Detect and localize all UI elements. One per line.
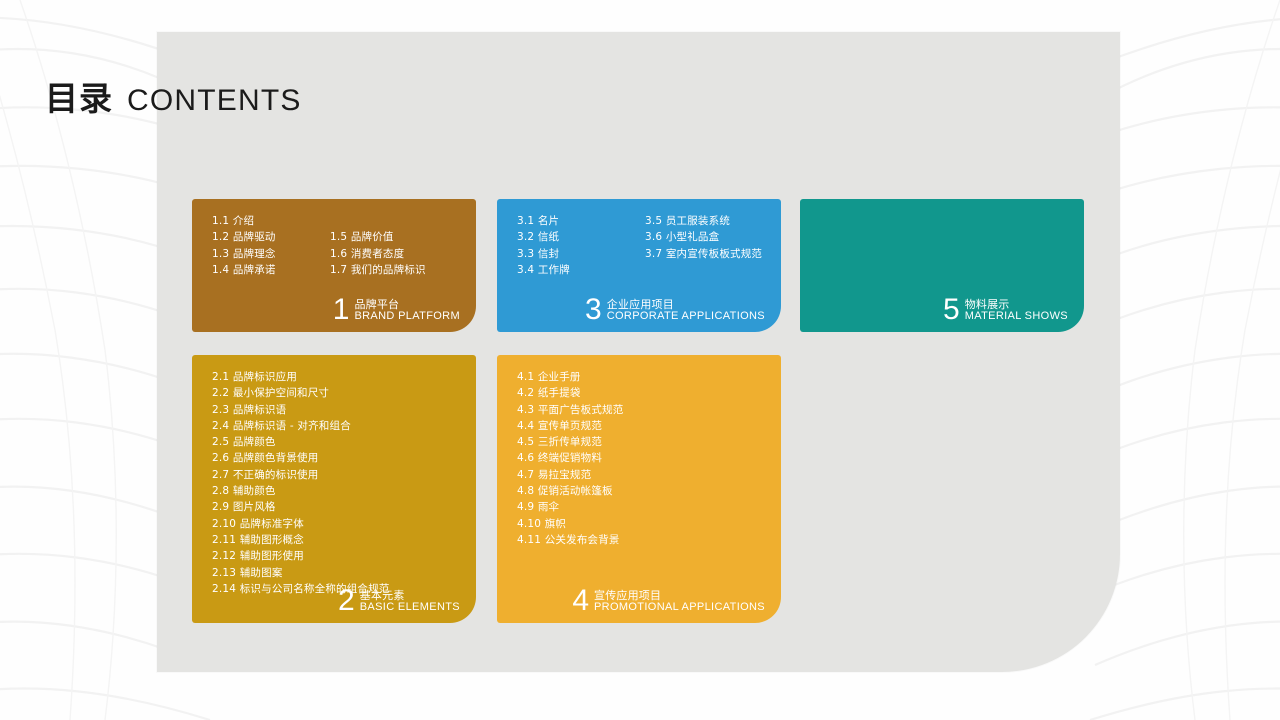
toc-item[interactable]: 2.4 品牌标识语 - 对齐和组合 xyxy=(212,418,390,434)
toc-item[interactable]: 2.12 辅助图形使用 xyxy=(212,548,390,564)
toc-item[interactable]: 2.3 品牌标识语 xyxy=(212,402,390,418)
toc-card-title-cn: 品牌平台 xyxy=(354,299,460,311)
toc-card-titles: 物料展示MATERIAL SHOWS xyxy=(965,299,1068,324)
toc-item[interactable]: 3.2 信纸 xyxy=(517,229,645,245)
toc-item[interactable]: 4.11 公关发布会背景 xyxy=(517,532,623,548)
toc-item[interactable]: 4.8 促销活动帐篷板 xyxy=(517,483,623,499)
toc-item[interactable]: 1.6 消费者态度 xyxy=(330,246,448,262)
toc-card-title-en: MATERIAL SHOWS xyxy=(965,311,1068,323)
toc-item[interactable]: 1.5 品牌价值 xyxy=(330,229,448,245)
toc-card-title-en: PROMOTIONAL APPLICATIONS xyxy=(594,602,765,614)
toc-item[interactable]: 1.4 品牌承诺 xyxy=(212,262,330,278)
toc-card-title-en: BRAND PLATFORM xyxy=(354,311,460,323)
toc-card-footer: 3企业应用项目CORPORATE APPLICATIONS xyxy=(585,296,765,324)
toc-card-number: 2 xyxy=(338,587,355,615)
toc-item[interactable]: 4.3 平面广告板式规范 xyxy=(517,402,623,418)
slide-root: 目录 CONTENTS 1.1 介绍1.2 品牌驱动1.3 品牌理念1.4 品牌… xyxy=(0,0,1280,720)
toc-card-footer: 2基本元素BASIC ELEMENTS xyxy=(338,587,460,615)
toc-card-4[interactable]: 4.1 企业手册4.2 纸手提袋4.3 平面广告板式规范4.4 宣传单页规范4.… xyxy=(497,355,781,623)
toc-card-footer: 4宣传应用项目PROMOTIONAL APPLICATIONS xyxy=(572,587,765,615)
toc-card-column-2: 3.5 员工服装系统3.6 小型礼品盒3.7 室内宣传板板式规范 xyxy=(645,213,773,278)
toc-item[interactable]: 2.5 品牌颜色 xyxy=(212,434,390,450)
page-title-en: CONTENTS xyxy=(127,84,302,118)
toc-card-footer: 5物料展示MATERIAL SHOWS xyxy=(943,296,1068,324)
toc-card-column-1: 2.1 品牌标识应用2.2 最小保护空间和尺寸2.3 品牌标识语2.4 品牌标识… xyxy=(212,369,390,597)
toc-item[interactable]: 1.2 品牌驱动 xyxy=(212,229,330,245)
toc-card-1[interactable]: 1.1 介绍1.2 品牌驱动1.3 品牌理念1.4 品牌承诺 1.5 品牌价值1… xyxy=(192,199,476,332)
toc-item[interactable]: 2.1 品牌标识应用 xyxy=(212,369,390,385)
page-title-cn: 目录 xyxy=(45,72,113,120)
toc-item-spacer xyxy=(330,213,448,229)
toc-card-items: 3.1 名片3.2 信纸3.3 信封3.4 工作牌3.5 员工服装系统3.6 小… xyxy=(517,213,763,278)
toc-card-number: 5 xyxy=(943,296,960,324)
toc-item[interactable]: 1.7 我们的品牌标识 xyxy=(330,262,448,278)
toc-item[interactable]: 4.9 雨伞 xyxy=(517,499,623,515)
toc-card-column-1: 1.1 介绍1.2 品牌驱动1.3 品牌理念1.4 品牌承诺 xyxy=(212,213,330,278)
toc-card-items: 4.1 企业手册4.2 纸手提袋4.3 平面广告板式规范4.4 宣传单页规范4.… xyxy=(517,369,763,548)
toc-item[interactable]: 3.3 信封 xyxy=(517,246,645,262)
page-title: 目录 CONTENTS xyxy=(45,72,302,120)
toc-item-spacer xyxy=(645,262,773,278)
toc-item[interactable]: 4.10 旗帜 xyxy=(517,516,623,532)
toc-item[interactable]: 2.8 辅助颜色 xyxy=(212,483,390,499)
toc-item[interactable]: 3.5 员工服装系统 xyxy=(645,213,773,229)
toc-item[interactable]: 2.11 辅助图形概念 xyxy=(212,532,390,548)
toc-card-titles: 企业应用项目CORPORATE APPLICATIONS xyxy=(607,299,765,324)
toc-item[interactable]: 1.1 介绍 xyxy=(212,213,330,229)
toc-item[interactable]: 2.9 图片风格 xyxy=(212,499,390,515)
toc-card-titles: 品牌平台BRAND PLATFORM xyxy=(354,299,460,324)
toc-item[interactable]: 3.1 名片 xyxy=(517,213,645,229)
toc-card-number: 1 xyxy=(333,296,350,324)
toc-card-title-cn: 宣传应用项目 xyxy=(594,590,765,602)
toc-card-column-1: 3.1 名片3.2 信纸3.3 信封3.4 工作牌 xyxy=(517,213,645,278)
toc-card-5[interactable]: 5物料展示MATERIAL SHOWS xyxy=(800,199,1084,332)
toc-card-number: 4 xyxy=(572,587,589,615)
toc-card-titles: 宣传应用项目PROMOTIONAL APPLICATIONS xyxy=(594,590,765,615)
toc-card-2[interactable]: 2.1 品牌标识应用2.2 最小保护空间和尺寸2.3 品牌标识语2.4 品牌标识… xyxy=(192,355,476,623)
toc-card-items: 2.1 品牌标识应用2.2 最小保护空间和尺寸2.3 品牌标识语2.4 品牌标识… xyxy=(212,369,458,597)
toc-item[interactable]: 1.3 品牌理念 xyxy=(212,246,330,262)
toc-item[interactable]: 4.6 终端促销物料 xyxy=(517,450,623,466)
toc-card-titles: 基本元素BASIC ELEMENTS xyxy=(360,590,460,615)
toc-item[interactable]: 2.7 不正确的标识使用 xyxy=(212,467,390,483)
toc-item[interactable]: 3.6 小型礼品盒 xyxy=(645,229,773,245)
toc-card-column-2: 1.5 品牌价值1.6 消费者态度1.7 我们的品牌标识 xyxy=(330,213,448,278)
toc-item[interactable]: 4.1 企业手册 xyxy=(517,369,623,385)
toc-item[interactable]: 2.10 品牌标准字体 xyxy=(212,516,390,532)
toc-item[interactable]: 4.2 纸手提袋 xyxy=(517,385,623,401)
toc-card-title-cn: 物料展示 xyxy=(965,299,1068,311)
toc-card-column-1: 4.1 企业手册4.2 纸手提袋4.3 平面广告板式规范4.4 宣传单页规范4.… xyxy=(517,369,623,548)
toc-card-number: 3 xyxy=(585,296,602,324)
toc-item[interactable]: 3.7 室内宣传板板式规范 xyxy=(645,246,773,262)
toc-item[interactable]: 4.5 三折传单规范 xyxy=(517,434,623,450)
toc-item[interactable]: 3.4 工作牌 xyxy=(517,262,645,278)
toc-card-title-cn: 基本元素 xyxy=(360,590,460,602)
toc-card-title-en: CORPORATE APPLICATIONS xyxy=(607,311,765,323)
toc-item[interactable]: 2.6 品牌颜色背景使用 xyxy=(212,450,390,466)
toc-item[interactable]: 4.7 易拉宝规范 xyxy=(517,467,623,483)
toc-card-title-cn: 企业应用项目 xyxy=(607,299,765,311)
toc-card-items: 1.1 介绍1.2 品牌驱动1.3 品牌理念1.4 品牌承诺 1.5 品牌价值1… xyxy=(212,213,458,278)
toc-card-footer: 1品牌平台BRAND PLATFORM xyxy=(333,296,460,324)
toc-item[interactable]: 2.13 辅助图案 xyxy=(212,565,390,581)
toc-item[interactable]: 4.4 宣传单页规范 xyxy=(517,418,623,434)
toc-card-3[interactable]: 3.1 名片3.2 信纸3.3 信封3.4 工作牌3.5 员工服装系统3.6 小… xyxy=(497,199,781,332)
toc-card-title-en: BASIC ELEMENTS xyxy=(360,602,460,614)
toc-item[interactable]: 2.2 最小保护空间和尺寸 xyxy=(212,385,390,401)
